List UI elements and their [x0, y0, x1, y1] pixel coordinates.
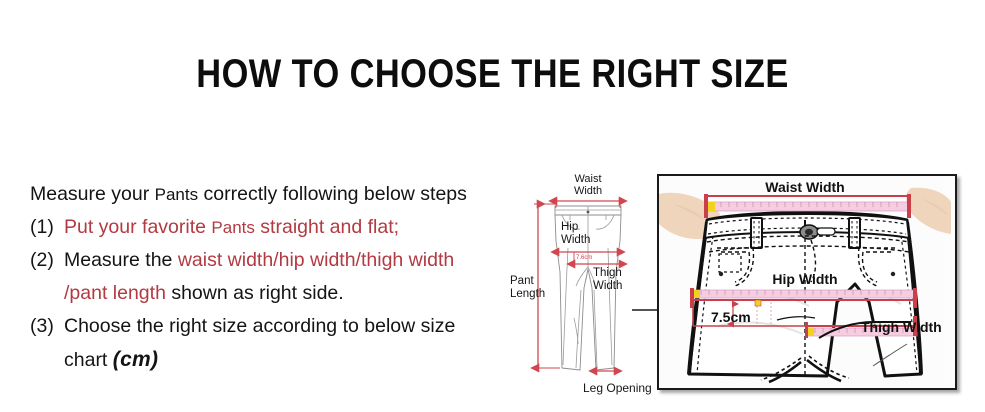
- pants-detail-panel: Waist Width Hip Width 7.5cm Thigh Width: [657, 174, 957, 390]
- instruction-step-3: (3)Choose the right size according to be…: [30, 310, 550, 343]
- step-3-cont-cm: (cm): [113, 348, 159, 371]
- step-3-cont-a: chart: [64, 349, 113, 371]
- instruction-intro: Measure your Pants correctly following b…: [30, 178, 550, 211]
- label-thigh-width-line1: Thigh: [593, 267, 622, 279]
- intro-before: Measure your: [30, 183, 155, 205]
- instruction-step-1: (1)Put your favorite Pants straight and …: [30, 211, 550, 244]
- label-pant-length-line1: Pant: [510, 275, 534, 287]
- label-waist-width-line1: Waist: [574, 173, 601, 185]
- step-3-number: (3): [30, 310, 64, 343]
- panel-label-thigh-width: Thigh Width: [861, 319, 942, 335]
- label-waist-width-line2: Width: [574, 185, 602, 197]
- label-offset-76cm: 7.6cm: [576, 255, 592, 261]
- page-title: HOW TO CHOOSE THE RIGHT SIZE: [69, 52, 916, 97]
- instructions-block: Measure your Pants correctly following b…: [30, 178, 550, 377]
- instruction-step-2-cont: /pant length shown as right side.: [30, 277, 550, 310]
- label-hip-width-line1: Hip: [561, 221, 578, 233]
- label-thigh-width-line2: Width: [593, 280, 622, 292]
- step-2-cont-b: shown as right side.: [166, 282, 344, 304]
- instruction-step-3-cont: chart (cm): [30, 343, 550, 377]
- step-2-text-a: Measure the: [64, 249, 178, 271]
- size-guide-page: HOW TO CHOOSE THE RIGHT SIZE Measure you…: [0, 0, 985, 412]
- step-3-text-a: Choose the right size according to below…: [64, 315, 455, 337]
- intro-item: Pants: [155, 185, 198, 204]
- instruction-step-2: (2)Measure the waist width/hip width/thi…: [30, 244, 550, 277]
- step-1-text-a: Put your favorite: [64, 216, 211, 238]
- step-1-number: (1): [30, 211, 64, 244]
- step-1-text-b: Pants: [211, 218, 254, 237]
- panel-label-waist-width: Waist Width: [765, 179, 844, 195]
- flat-lay-pants-diagram: Waist Width Hip Width 7.6cm Thigh Width …: [508, 168, 668, 400]
- label-pant-length-line2: Length: [510, 288, 545, 300]
- panel-label-hip-width: Hip Width: [772, 271, 837, 287]
- step-1-text-c: straight and flat;: [255, 216, 399, 238]
- step-2-cont-a: /pant length: [64, 282, 166, 304]
- step-2-text-b: waist width/hip width/thigh width: [178, 249, 454, 271]
- panel-label-75cm: 7.5cm: [711, 309, 751, 325]
- intro-after: correctly following below steps: [198, 183, 467, 205]
- label-hip-width-line2: Width: [561, 234, 590, 246]
- label-leg-opening: Leg Opening: [583, 381, 652, 395]
- step-2-number: (2): [30, 244, 64, 277]
